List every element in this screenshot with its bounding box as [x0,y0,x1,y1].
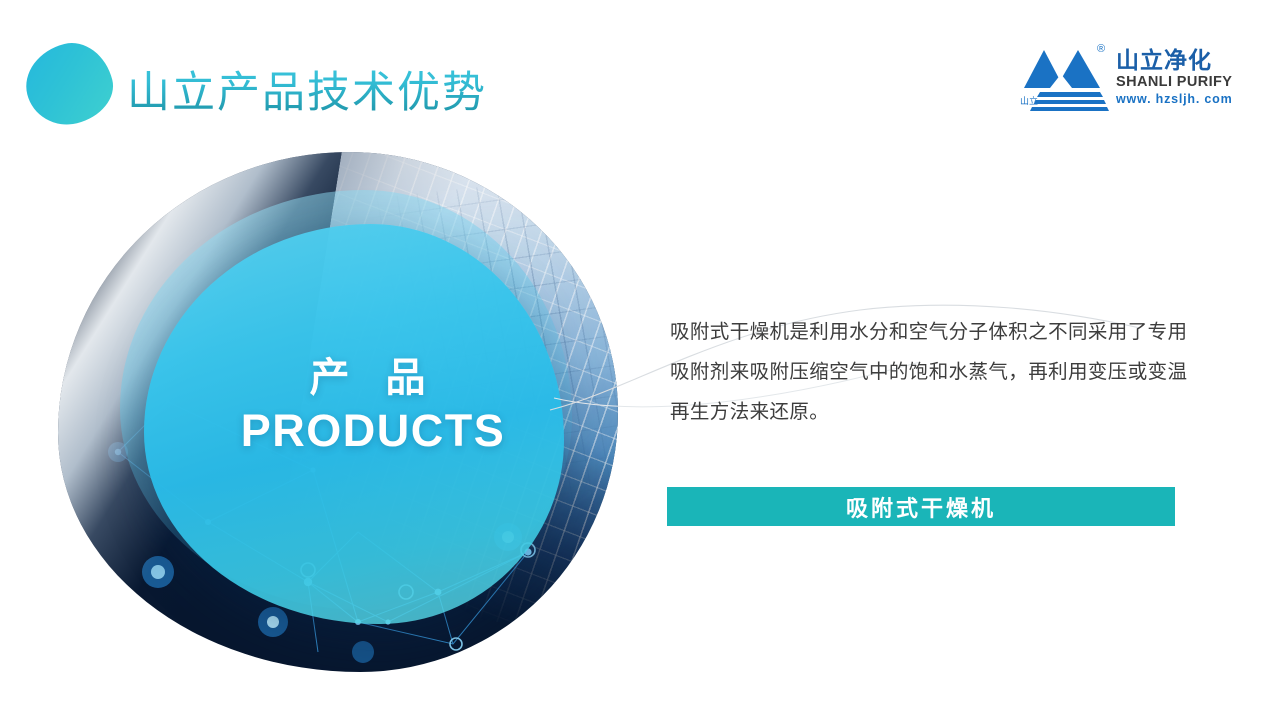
hero-label-en: PRODUCTS [208,404,538,458]
logo-mark-label: 山立 [1020,94,1038,107]
brand-logo: ® 山立 山立净化 SHANLI PURIFY www. hzsljh. com [1020,40,1238,118]
logo-company-en: SHANLI PURIFY [1116,74,1242,91]
hero-label-cn: 产 品 [208,352,538,404]
product-name-label: 吸附式干燥机 [846,491,996,523]
product-name-banner: 吸附式干燥机 [667,487,1175,526]
logo-text-block: 山立净化 SHANLI PURIFY www. hzsljh. com [1116,48,1242,107]
product-description: 吸附式干燥机是利用水分和空气分子体积之不同采用了专用吸附剂来吸附压缩空气中的饱和… [670,312,1194,432]
logo-website: www. hzsljh. com [1116,91,1242,107]
logo-company-cn: 山立净化 [1116,48,1242,74]
hero-label: 产 品 PRODUCTS [208,352,538,458]
hero-product-blob: 产 品 PRODUCTS [58,152,618,672]
page-title: 山立产品技术优势 [127,58,487,120]
header-decor-blob-icon [18,35,121,133]
registered-trademark-icon: ® [1097,43,1105,55]
